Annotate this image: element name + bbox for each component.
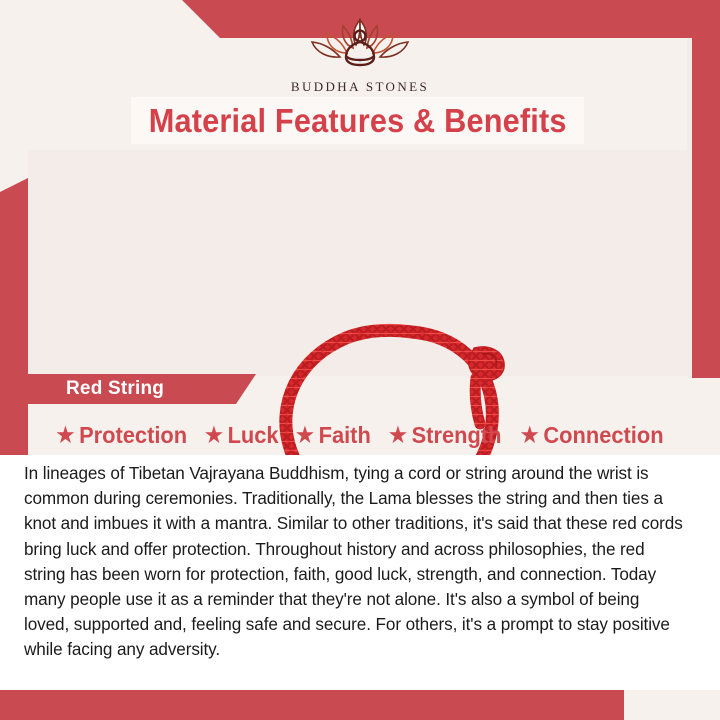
brand-logo: BUDDHA STONES	[0, 14, 720, 95]
benefit-label: Connection	[543, 422, 663, 449]
left-red-band	[0, 178, 28, 460]
benefit-label: Luck	[228, 422, 279, 449]
benefit-connection: ★ Connection	[521, 422, 664, 449]
bottom-right-corner-fill	[624, 690, 720, 720]
infographic-page: BUDDHA STONES Material Features & Benefi…	[0, 0, 720, 720]
star-icon: ★	[389, 425, 407, 446]
benefit-label: Faith	[318, 422, 370, 449]
description-block: In lineages of Tibetan Vajrayana Buddhis…	[0, 455, 720, 690]
benefit-label: Strength	[411, 422, 501, 449]
product-label: Red String	[66, 378, 164, 400]
star-icon: ★	[56, 425, 74, 446]
benefit-strength: ★ Strength	[389, 422, 501, 449]
benefits-row: ★ Protection ★ Luck ★ Faith ★ Strength ★…	[28, 418, 692, 452]
lotus-meditation-icon	[302, 14, 418, 76]
description-text: In lineages of Tibetan Vajrayana Buddhis…	[24, 461, 688, 663]
star-icon: ★	[521, 425, 539, 446]
benefit-luck: ★ Luck	[205, 422, 279, 449]
benefit-faith: ★ Faith	[296, 422, 371, 449]
star-icon: ★	[296, 425, 314, 446]
benefit-protection: ★ Protection	[56, 422, 187, 449]
brand-name: BUDDHA STONES	[291, 79, 429, 95]
bottom-red-banner	[0, 690, 720, 720]
page-title-banner: Material Features & Benefits	[131, 97, 584, 144]
benefit-label: Protection	[79, 422, 187, 449]
product-label-banner: Red String	[28, 374, 256, 404]
product-image-area	[28, 150, 692, 376]
star-icon: ★	[205, 425, 223, 446]
page-title: Material Features & Benefits	[149, 102, 567, 140]
